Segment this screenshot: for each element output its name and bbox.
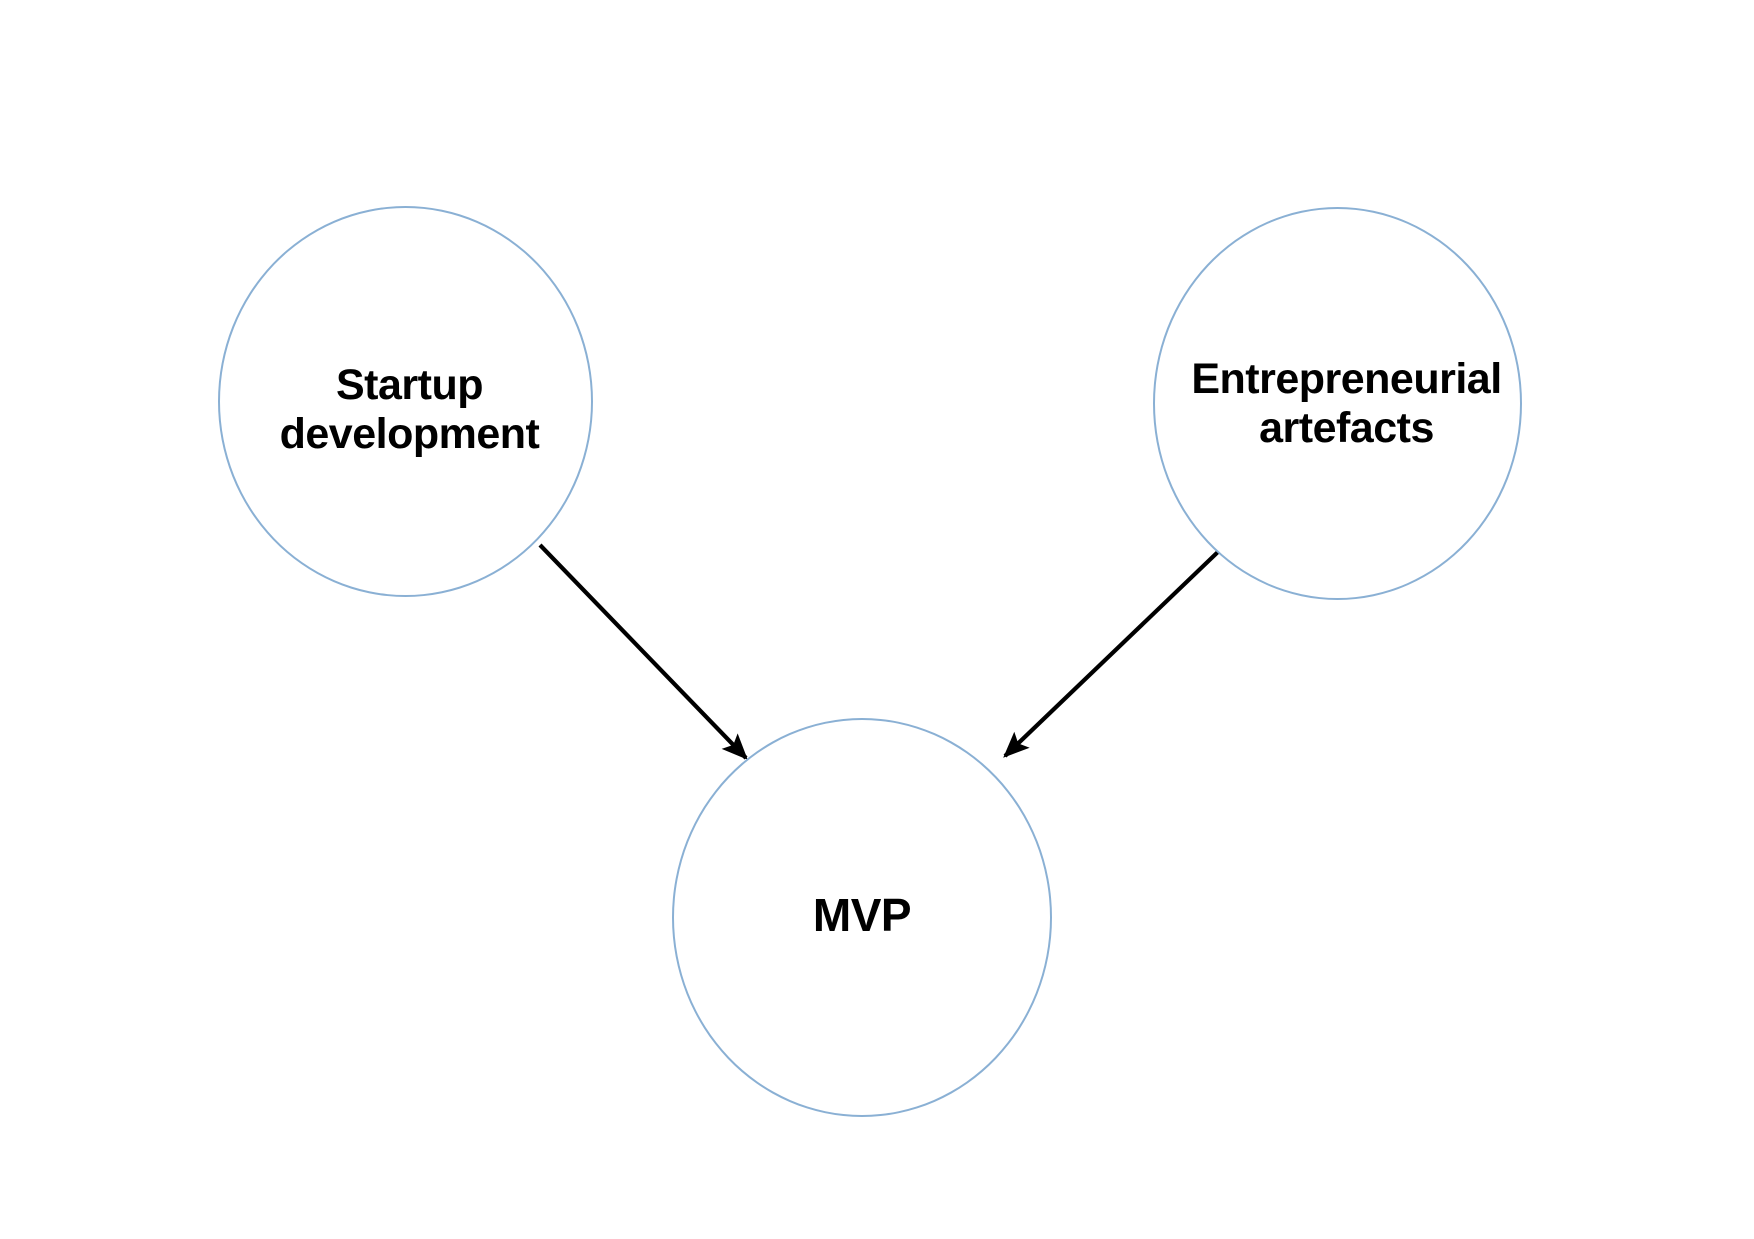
diagram-canvas: Startup development Entrepreneurial arte… (0, 0, 1754, 1239)
node-startup-development[interactable]: Startup development (218, 206, 593, 597)
node-mvp[interactable]: MVP (672, 718, 1052, 1117)
node-entrepreneurial-artefacts[interactable]: Entrepreneurial artefacts (1153, 207, 1522, 600)
edge-startup-to-mvp (540, 545, 746, 758)
node-startup-development-label: Startup development (280, 361, 540, 457)
node-mvp-label: MVP (813, 890, 911, 942)
node-entrepreneurial-artefacts-label: Entrepreneurial artefacts (1191, 355, 1501, 451)
edge-artefacts-to-mvp (1005, 549, 1221, 756)
